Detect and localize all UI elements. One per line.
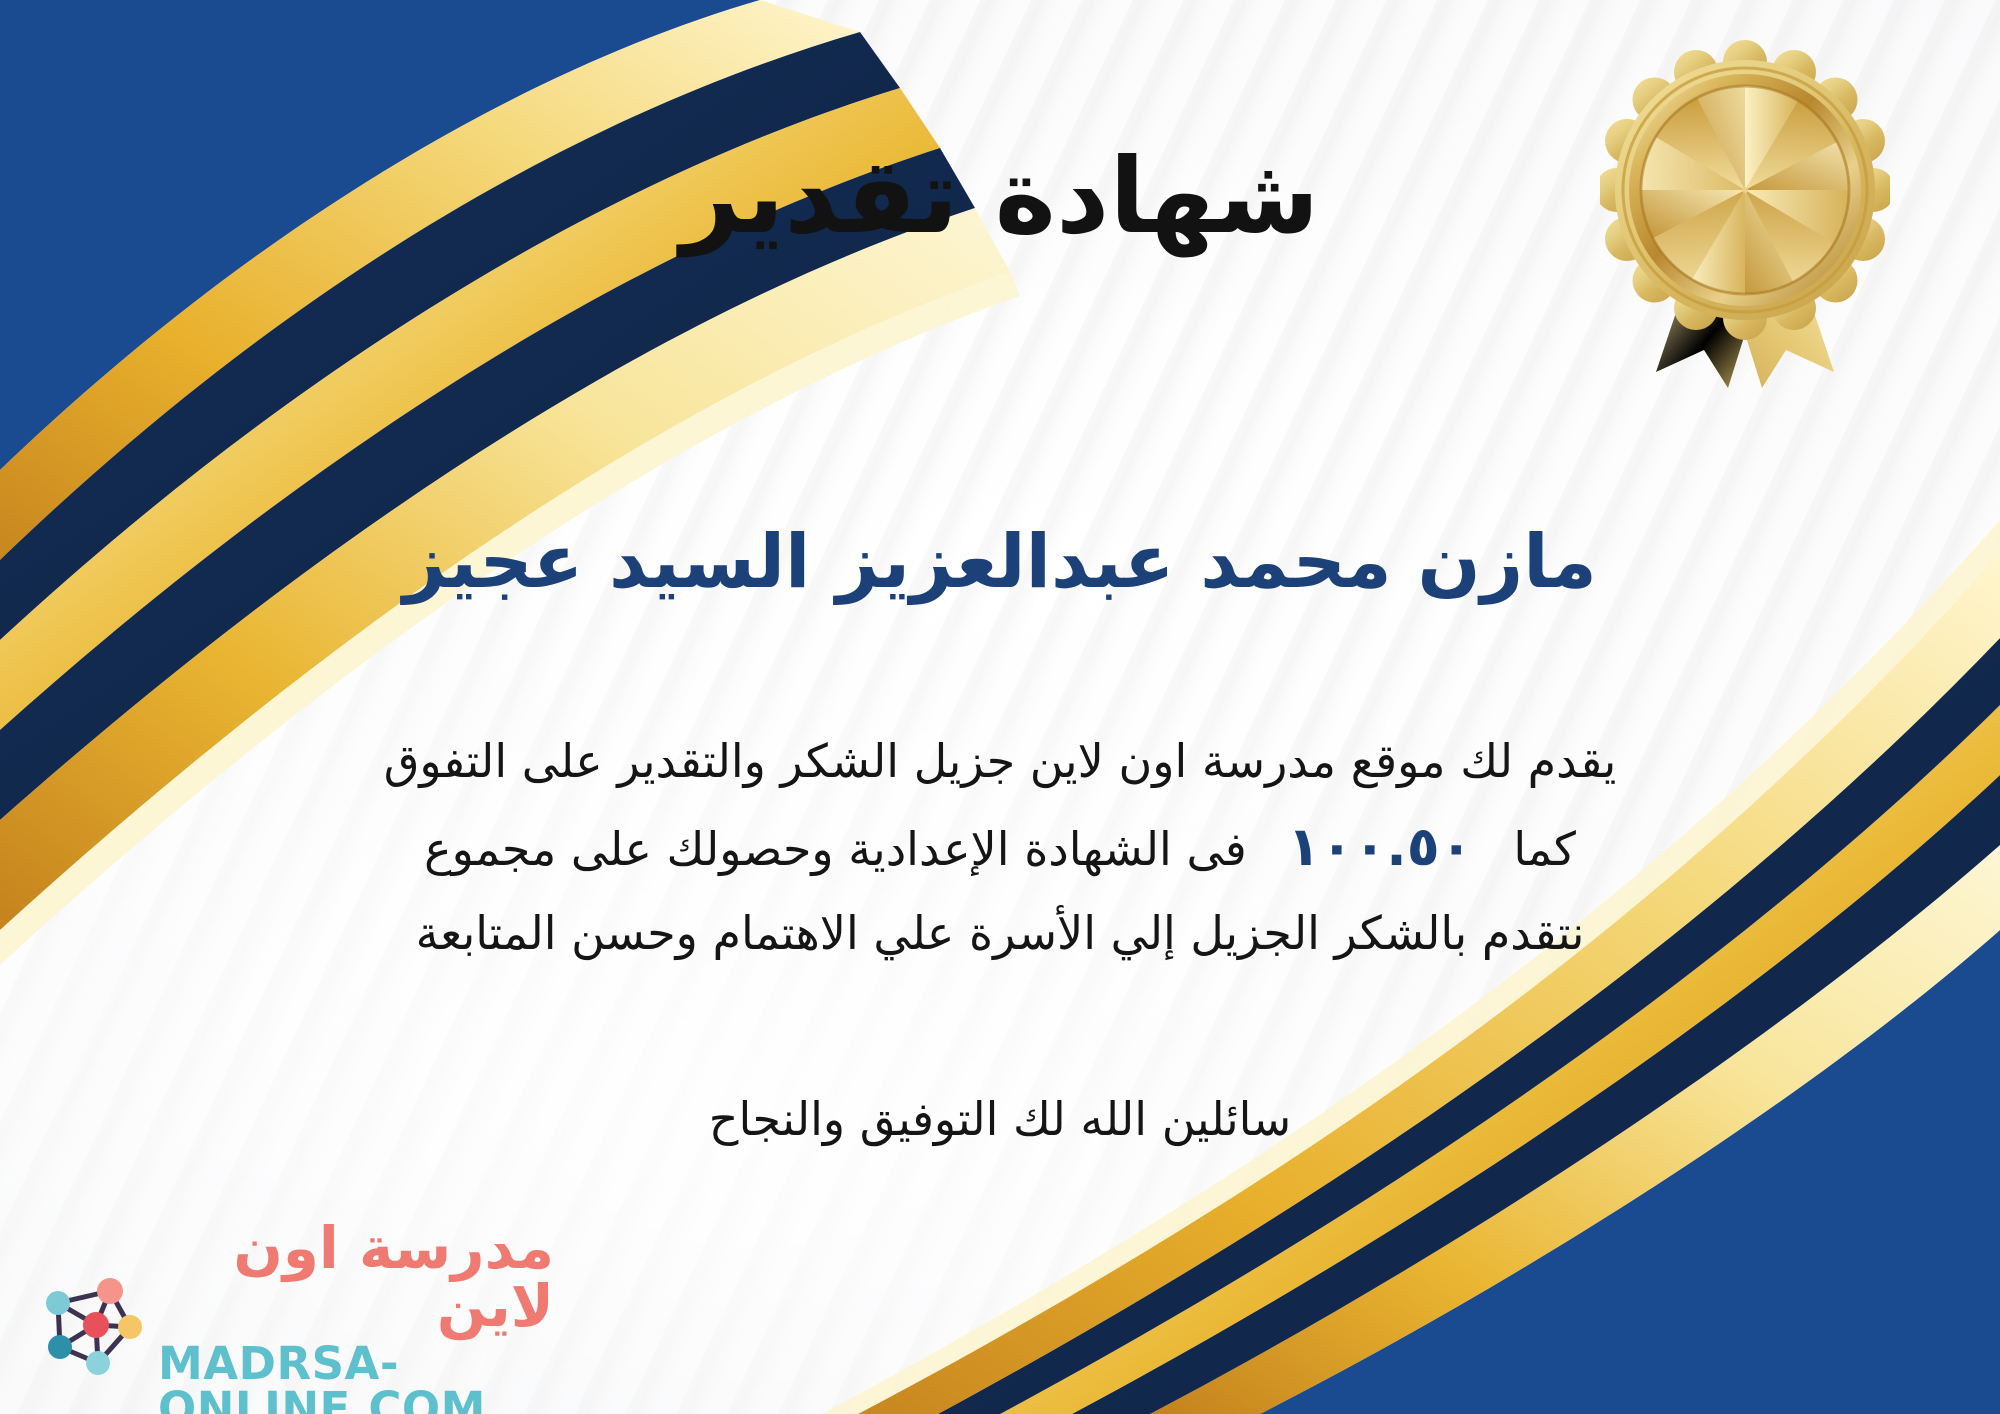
- site-logo[interactable]: مدرسة اون لاين MADRSA-ONLINE.COM: [34, 1250, 554, 1400]
- body-line-2-prefix: كما: [1513, 822, 1576, 876]
- gold-award-rosette-icon: [1600, 40, 1890, 390]
- body-line-2-suffix: فى الشهادة الإعدادية وحصولك على مجموع: [424, 822, 1247, 876]
- certificate-page: شهادة تقدير مازن محمد عبدالعزيز السيد عج…: [0, 0, 2000, 1414]
- logo-website: MADRSA-ONLINE.COM: [158, 1341, 554, 1414]
- closing-line: سائلين الله لك التوفيق والنجاح: [0, 1092, 2000, 1146]
- body-line-2: كما ١٠٠.٥٠ فى الشهادة الإعدادية وحصولك ع…: [70, 801, 1930, 894]
- recipient-name: مازن محمد عبدالعزيز السيد عجيز: [0, 518, 2000, 607]
- logo-arabic-name: مدرسة اون لاين: [158, 1219, 554, 1335]
- body-line-1: يقدم لك موقع مدرسة اون لاين جزيل الشكر و…: [70, 722, 1930, 801]
- certificate-body: يقدم لك موقع مدرسة اون لاين جزيل الشكر و…: [70, 722, 1930, 973]
- network-nodes-icon: [34, 1269, 146, 1381]
- score-value: ١٠٠.٥٠: [1261, 815, 1498, 878]
- body-line-3: نتقدم بالشكر الجزيل إلي الأسرة علي الاهت…: [70, 894, 1930, 973]
